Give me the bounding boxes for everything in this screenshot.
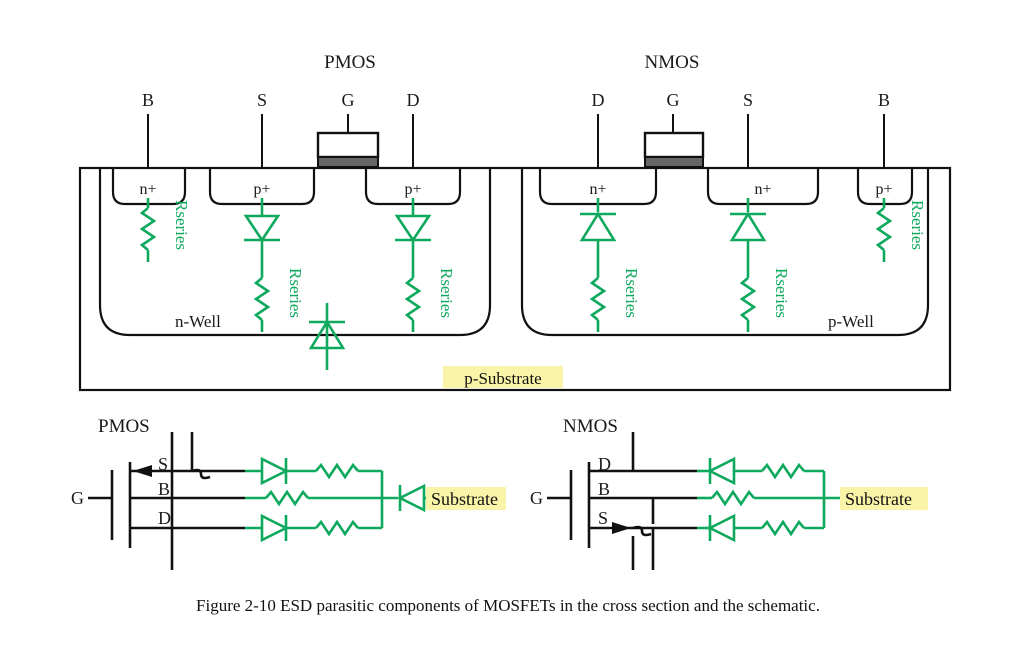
nmos-poly-gate: [645, 133, 703, 157]
nmos-drain-rseries-label: Rseries: [622, 268, 641, 318]
schematic-nmos-title: NMOS: [563, 416, 618, 437]
nmos-drain-diffusion-label: n+: [589, 181, 606, 198]
pmos-source-rseries-label: Rseries: [286, 268, 305, 318]
schematic-pmos-title: PMOS: [98, 416, 150, 437]
pmos-drain-terminal-label: D: [407, 90, 420, 110]
nmos-source-diffusion-label: n+: [754, 181, 771, 198]
nmos-sym-drain-label: D: [598, 454, 611, 474]
nmos-source-rseries-label: Rseries: [772, 268, 791, 318]
pmos-source-diffusion-label: p+: [253, 181, 270, 198]
pmos-sym-bulk-label: B: [158, 479, 170, 499]
cross-section-pmos-title: PMOS: [324, 52, 376, 73]
figure-canvas: PMOS NMOS n-Well p-Well p-Substrate n+ p…: [0, 0, 1016, 652]
figure-caption: Figure 2-10 ESD parasitic components of …: [196, 596, 820, 615]
pmos-sym-source-label: S: [158, 454, 168, 474]
pmos-sch-substrate-label: Substrate: [431, 489, 498, 509]
nmos-sym-source-label: S: [598, 508, 608, 528]
pmos-bulk-rseries-label: Rseries: [172, 200, 191, 250]
cross-section-nmos-title: NMOS: [645, 52, 700, 73]
pmos-sym-gate-label: G: [71, 488, 84, 508]
pmos-drain-diffusion-label: p+: [404, 181, 421, 198]
pmos-drain-rseries-label: Rseries: [437, 268, 456, 318]
nmos-bulk-rseries-label: Rseries: [908, 200, 927, 250]
nmos-bulk-terminal-label: B: [878, 90, 890, 110]
pmos-poly-gate: [318, 133, 378, 157]
nmos-sym-bulk-label: B: [598, 479, 610, 499]
pmos-gate-stack: [318, 133, 378, 167]
pmos-bulk-diffusion-label: n+: [139, 181, 156, 198]
nmos-gate-terminal-label: G: [667, 90, 680, 110]
nmos-drain-terminal-label: D: [592, 90, 605, 110]
pmos-gate-terminal-label: G: [342, 90, 355, 110]
pmos-sym-drain-label: D: [158, 508, 171, 528]
p-well-label: p-Well: [828, 312, 874, 331]
nmos-bulk-diffusion-label: p+: [875, 181, 892, 198]
p-substrate-label: p-Substrate: [464, 369, 541, 388]
nmos-gate-oxide: [645, 157, 703, 167]
nmos-source-terminal-label: S: [743, 90, 753, 110]
pmos-gate-oxide: [318, 157, 378, 167]
nmos-gate-stack: [645, 133, 703, 167]
nmos-sym-gate-label: G: [530, 488, 543, 508]
nmos-sch-substrate-label: Substrate: [845, 489, 912, 509]
pmos-source-terminal-label: S: [257, 90, 267, 110]
n-well-label: n-Well: [175, 312, 221, 331]
esd-parasitic-figure: PMOS NMOS n-Well p-Well p-Substrate n+ p…: [0, 0, 1016, 652]
pmos-bulk-terminal-label: B: [142, 90, 154, 110]
